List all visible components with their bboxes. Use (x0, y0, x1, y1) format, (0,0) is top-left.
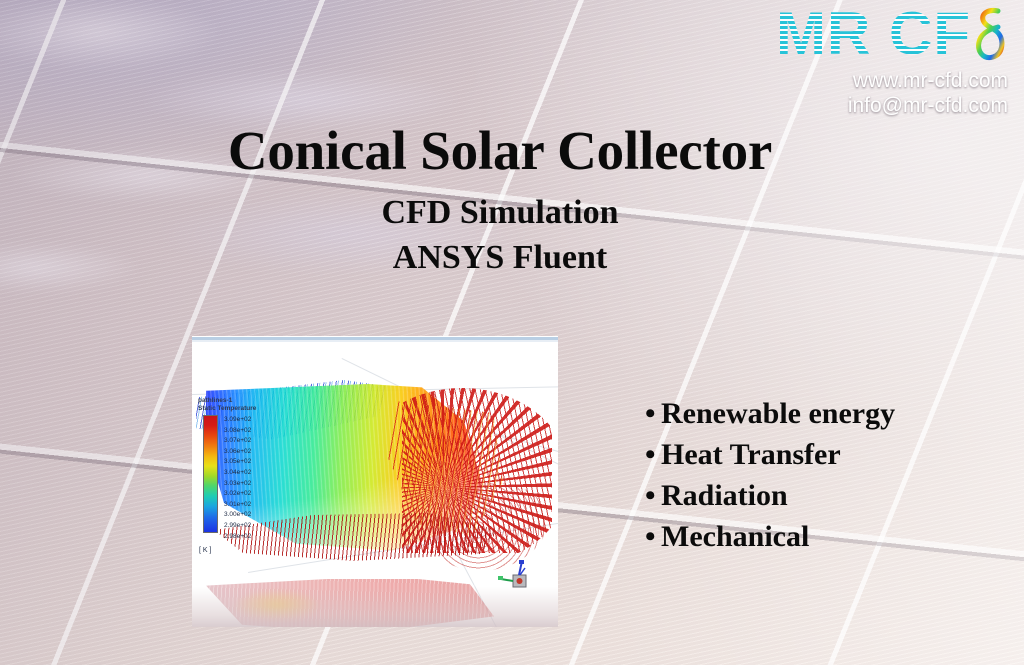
logo-contact: www.mr-cfd.com info@mr-cfd.com (754, 68, 1008, 118)
colorbar-unit-label: [ K ] (199, 547, 290, 554)
colorbar-tick: 2.98e+02 (224, 532, 251, 543)
legend-body: 3.09e+02 3.08e+02 3.07e+02 3.06e+02 3.05… (198, 415, 290, 542)
colorbar-tick: 3.06e+02 (224, 447, 251, 458)
logo-mark: MR CF (754, 6, 1008, 66)
poster-canvas: MR CF www.mr-cfd. (0, 0, 1024, 665)
figure-reflection (192, 579, 558, 627)
list-item-label: Renewable energy (661, 393, 895, 434)
logo-email[interactable]: info@mr-cfd.com (754, 93, 1008, 118)
mr-cfd-logo[interactable]: MR CF www.mr-cfd. (754, 6, 1008, 118)
rainbow-delta-icon (974, 6, 1008, 64)
subtitle-line-1: CFD Simulation (0, 190, 1012, 235)
feature-list: • Renewable energy • Heat Transfer • Rad… (645, 393, 895, 557)
list-item: • Radiation (645, 475, 895, 516)
list-item: • Renewable energy (645, 393, 895, 434)
list-item-label: Mechanical (661, 516, 809, 557)
list-item: • Mechanical (645, 516, 895, 557)
list-item: • Heat Transfer (645, 434, 895, 475)
colorbar-tick: 3.02e+02 (224, 489, 251, 500)
colorbar-tick: 3.07e+02 (224, 436, 251, 447)
colorbar-tick: 3.00e+02 (224, 510, 251, 521)
legend-title-line-2: Static Temperature (198, 405, 290, 413)
colorbar-tick: 3.09e+02 (224, 415, 251, 426)
list-item-label: Heat Transfer (661, 434, 841, 475)
reflection-glow (232, 589, 322, 623)
bullet-icon: • (645, 393, 661, 434)
bullet-icon: • (645, 434, 661, 475)
colorbar-tick: 2.99e+02 (224, 521, 251, 532)
list-item-label: Radiation (661, 475, 788, 516)
colorbar-tick: 3.05e+02 (224, 457, 251, 468)
colorbar-legend: pathlines-1 Static Temperature 3.09e+02 … (198, 397, 290, 554)
subtitle-line-2: ANSYS Fluent (0, 235, 1012, 280)
colorbar-tick: 3.03e+02 (224, 479, 251, 490)
bullet-icon: • (645, 516, 661, 557)
colorbar-tick-labels: 3.09e+02 3.08e+02 3.07e+02 3.06e+02 3.05… (224, 415, 251, 542)
colorbar-tick: 3.04e+02 (224, 468, 251, 479)
cfd-result-figure: pathlines-1 Static Temperature 3.09e+02 … (192, 336, 558, 627)
page-title: Conical Solar Collector (0, 120, 1012, 182)
colorbar-gradient (203, 415, 218, 533)
logo-website[interactable]: www.mr-cfd.com (754, 68, 1008, 93)
legend-title-line-1: pathlines-1 (198, 397, 290, 405)
colorbar-tick: 3.01e+02 (224, 500, 251, 511)
bullet-icon: • (645, 475, 661, 516)
page-subtitle: CFD Simulation ANSYS Fluent (0, 190, 1012, 280)
logo-wordmark: MR CF (776, 6, 971, 62)
colorbar-tick: 3.08e+02 (224, 426, 251, 437)
